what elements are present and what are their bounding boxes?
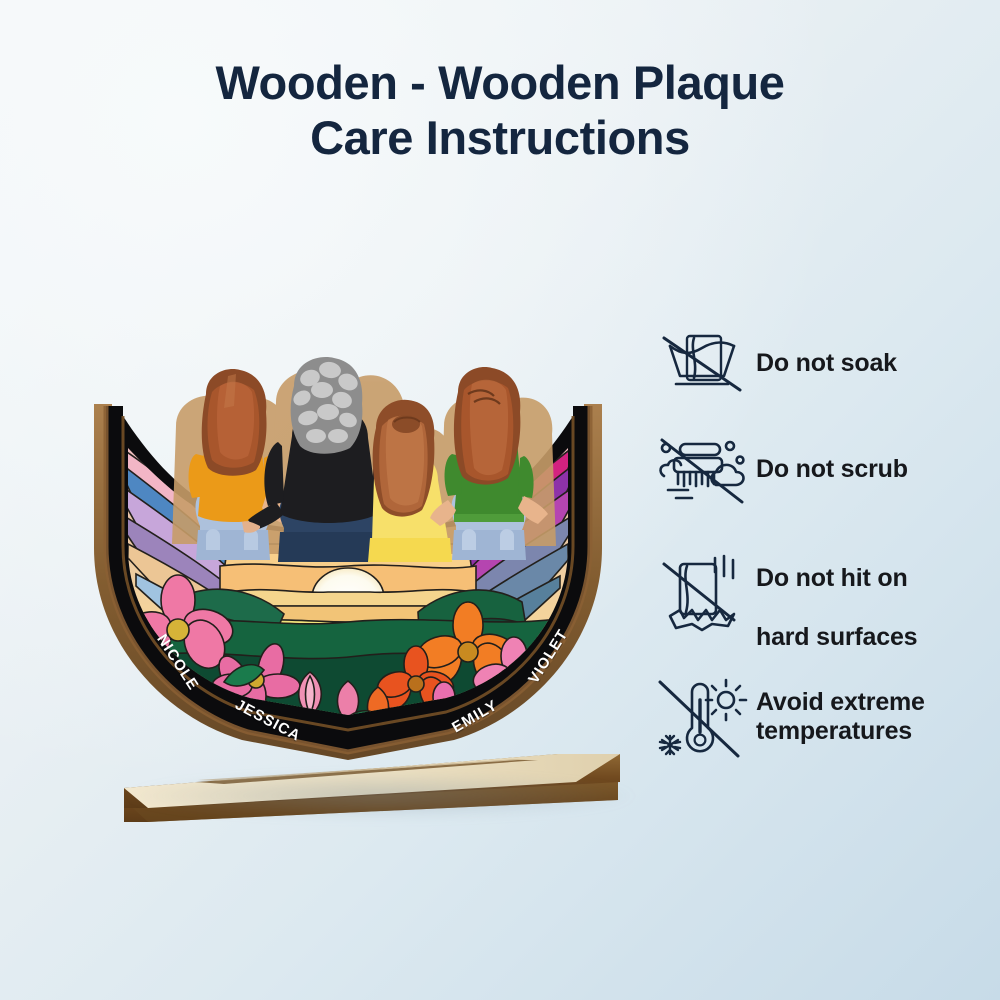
care-item-label-line2: temperatures <box>756 717 912 745</box>
care-item-label-line1: Avoid extreme <box>756 688 925 716</box>
page-title: Wooden - Wooden Plaque Care Instructions <box>0 56 1000 165</box>
page-title-line1: Wooden - Wooden Plaque <box>215 56 784 109</box>
care-item-do-not-hit: Do not hit on hard surfaces <box>648 534 988 652</box>
care-item-label: Do not hit on hard surfaces <box>756 534 917 652</box>
care-instructions-list: Do not soak Do not scrub <box>648 322 988 782</box>
wooden-plaque-product: NICOLE JESSICA EMILY VIOLET <box>28 330 668 850</box>
care-item-do-not-soak: Do not soak <box>648 322 988 406</box>
page-root: Wooden - Wooden Plaque Care Instructions… <box>0 0 1000 1000</box>
care-item-label: Do not scrub <box>756 455 908 485</box>
care-item-label: Avoid extreme temperatures <box>756 688 925 747</box>
page-title-line2: Care Instructions <box>0 111 1000 166</box>
product-shadow <box>120 772 640 820</box>
care-item-label-line1: Do not hit on <box>756 564 908 592</box>
care-item-do-not-scrub: Do not scrub <box>648 428 988 512</box>
care-item-label: Do not soak <box>756 349 897 379</box>
care-item-label-line2: hard surfaces <box>756 623 917 651</box>
care-item-avoid-temperatures: Avoid extreme temperatures <box>648 674 988 760</box>
family-figures <box>172 357 556 562</box>
